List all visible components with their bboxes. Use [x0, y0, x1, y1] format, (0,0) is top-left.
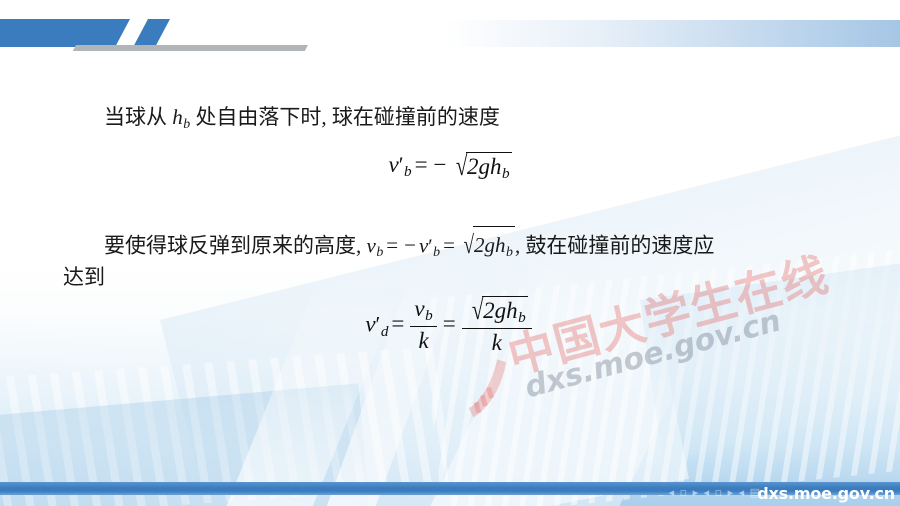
equation-2-fraction-2: √2ghbk — [462, 294, 532, 356]
equation-2-fraction-1-numerator: vb — [410, 296, 436, 327]
equation-1-radicand-h: h — [490, 154, 502, 179]
equation-1-lhs-prime: ′ — [399, 153, 404, 177]
equation-1-radicand-h-subscript: b — [502, 165, 510, 182]
equation-2-fraction-1-denominator: k — [410, 327, 436, 354]
equation-2: v′d=vbk=√2ghbk — [0, 295, 900, 357]
equation-2-lhs-prime: ′ — [376, 312, 381, 336]
paragraph-2-tail: 鼓在碰撞前的速度应 — [525, 233, 714, 257]
paragraph-2-equals-2: = — [440, 233, 458, 257]
footer-nav-glyphs[interactable]: ◂ ▫ ▸ ◂ ▫ ▸ ◂ ▤ — [669, 486, 761, 499]
equation-1-lhs-subscript: b — [404, 163, 412, 180]
equation-2-radical-sign: √ — [472, 295, 484, 327]
equation-1-radical: √2ghb — [450, 150, 512, 183]
equation-2-frac1-num-subscript: b — [425, 307, 433, 324]
paragraph-1-var-h-subscript: b — [183, 116, 190, 131]
equation-2-equals-1: = — [388, 311, 407, 336]
paragraph-2-equals-1: = — [383, 233, 401, 257]
equation-1-equals: = — [412, 152, 431, 177]
paragraph-1-tail: 处自由落下时, 球在碰撞前的速度 — [195, 105, 500, 129]
paragraph-1-var-h: h — [172, 105, 183, 129]
paragraph-1-lead: 当球从 — [104, 105, 167, 129]
equation-2-radicand: 2ghb — [482, 296, 528, 327]
paragraph-2-continuation: 达到 — [63, 260, 105, 294]
equation-1-radicand: 2ghb — [466, 152, 512, 183]
equation-2-frac1-num-var: v — [414, 296, 424, 321]
equation-2-lhs-var: v — [365, 311, 375, 336]
equation-2-radicand-h: h — [506, 298, 518, 323]
paragraph-2-comma: , — [515, 233, 520, 257]
equation-2-fraction-1: vbk — [410, 296, 436, 354]
equation-1-minus: − — [431, 152, 450, 177]
equation-2-radical: √2ghb — [466, 294, 528, 327]
paragraph-2-vbp-prime: ′ — [428, 235, 432, 257]
paragraph-2-radicand: 2ghb — [473, 226, 515, 269]
paragraph-2-lead: 要使得球反弹到原来的高度, — [104, 233, 361, 257]
footer-url[interactable]: dxs.moe.gov.cn — [757, 484, 895, 503]
equation-1-radical-sign: √ — [455, 151, 467, 183]
equation-1-radicand-2: 2 — [467, 154, 479, 179]
paragraph-2-radical-sign: √ — [463, 228, 474, 262]
equation-2-equals-2: = — [440, 311, 459, 336]
equation-2-fraction-2-numerator: √2ghb — [462, 294, 532, 329]
equation-2-radicand-g: g — [495, 298, 507, 323]
equation-2-fraction-2-denominator: k — [462, 329, 532, 356]
equation-2-radicand-h-subscript: b — [518, 309, 526, 326]
paragraph-2-minus: − — [401, 233, 419, 257]
slide-content: 当球从 hb 处自由落下时, 球在碰撞前的速度 v′b=−√2ghb 要使得球反… — [0, 0, 900, 506]
paragraph-1: 当球从 hb 处自由落下时, 球在碰撞前的速度 — [104, 100, 500, 141]
paragraph-2-radical: √2ghb — [458, 226, 515, 269]
equation-1: v′b=−√2ghb — [0, 150, 900, 183]
equation-1-lhs-var: v — [388, 152, 398, 177]
equation-2-radicand-2: 2 — [483, 298, 495, 323]
paragraph-2-radicand-2: 2 — [474, 233, 485, 257]
paragraph-2-radicand-h-subscript: b — [506, 244, 513, 259]
slide-canvas: 当球从 hb 处自由落下时, 球在碰撞前的速度 v′b=−√2ghb 要使得球反… — [0, 0, 900, 506]
paragraph-2: 要使得球反弹到原来的高度, vb=−v′b=√2ghb, 鼓在碰撞前的速度应 — [104, 226, 714, 269]
equation-1-radicand-g: g — [478, 154, 490, 179]
paragraph-2-radicand-h: h — [495, 233, 506, 257]
paragraph-2-vbp-var: v — [419, 233, 428, 257]
paragraph-2-radicand-g: g — [485, 233, 496, 257]
paragraph-2-vb-var: v — [367, 233, 376, 257]
